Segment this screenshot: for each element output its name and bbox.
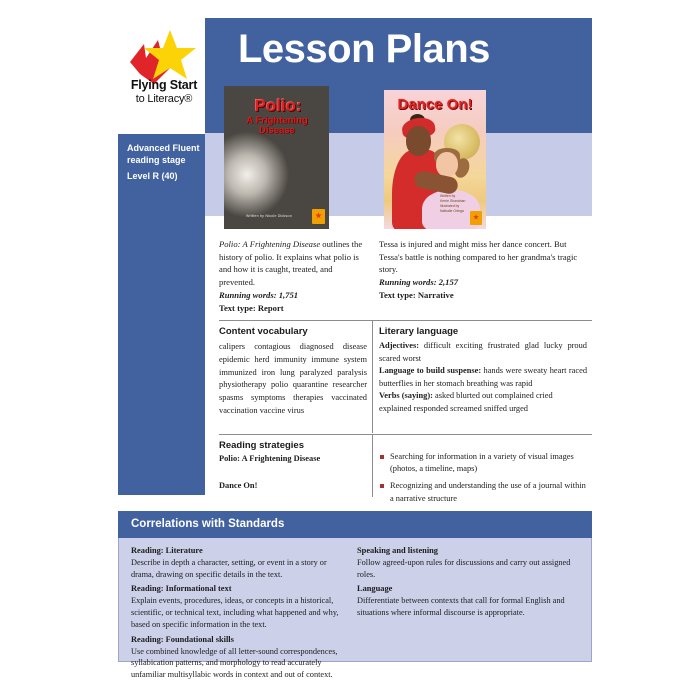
literary-group-suspense: Language to build suspense: hands were s…: [379, 365, 587, 390]
brand-wordmark: Flying Start to Literacy®: [118, 78, 210, 105]
dance-description-text: Tessa is injured and might miss her danc…: [379, 239, 577, 274]
literary-label-suspense: Language to build suspense:: [379, 366, 481, 375]
dance-text-type-value: Narrative: [418, 290, 454, 300]
polio-cover-subtitle: A Frightening Disease: [230, 116, 324, 135]
brand-line-1: Flying Start: [118, 78, 210, 92]
publisher-badge-icon: [312, 209, 325, 224]
sidebar-level: Level R (40): [127, 171, 201, 181]
standard-text: Use combined knowledge of all letter-sou…: [131, 646, 346, 681]
polio-running-words-value: 1,751: [279, 290, 298, 300]
list-item: Searching for information in a variety o…: [390, 451, 589, 475]
standard-text: Describe in depth a character, setting, …: [131, 557, 346, 581]
literary-label-verbs: Verbs (saying):: [379, 391, 433, 400]
book-cover-dance-on: Dance On! Written byKerrie ShanahanIllus…: [384, 90, 486, 229]
vocabulary-section-divider: [219, 320, 592, 321]
literary-language-heading: Literary language: [379, 326, 458, 337]
book-cover-polio: Polio: A Frightening Disease Written by …: [224, 86, 329, 229]
polio-title-italic: Polio: A Frightening Disease: [219, 239, 320, 249]
literary-group-adjectives: Adjectives: difficult exciting frustrate…: [379, 340, 587, 365]
standard-title: Reading: Informational text: [131, 583, 346, 595]
standard-text: Differentiate between contexts that call…: [357, 595, 579, 619]
book-description-polio: Polio: A Frightening Disease outlines th…: [219, 238, 369, 314]
polio-cover-title: Polio:: [232, 98, 324, 114]
dance-running-words-label: Running words:: [379, 277, 437, 287]
dance-text-type-label: Text type:: [379, 290, 416, 300]
reading-strategies-bullets: Searching for information in a variety o…: [379, 451, 589, 510]
vocabulary-column-divider: [372, 321, 373, 433]
reading-strategies-book-titles: Polio: A Frightening Disease Dance On!: [219, 453, 369, 492]
page-title: Lesson Plans: [238, 28, 578, 70]
content-vocabulary-heading: Content vocabulary: [219, 326, 308, 337]
standard-title: Reading: Literature: [131, 545, 346, 557]
standard-text: Explain events, procedures, ideas, or co…: [131, 595, 346, 630]
standard-title: Language: [357, 583, 579, 595]
brand-line-2: to Literacy®: [118, 93, 210, 105]
literary-label-adjectives: Adjectives:: [379, 341, 419, 350]
dance-running-words-value: 2,157: [439, 277, 458, 287]
strategy-book-two: Dance On!: [219, 481, 257, 490]
dance-cover-girl-head: [436, 152, 458, 177]
strategies-section-divider: [219, 434, 592, 435]
dance-cover-title: Dance On!: [388, 97, 482, 112]
literary-group-verbs: Verbs (saying): asked blurted out compla…: [379, 390, 587, 415]
standard-text: Follow agreed-upon rules for discussions…: [357, 557, 579, 581]
standards-heading: Correlations with Standards: [131, 518, 284, 530]
dance-cover-woman-head: [406, 126, 431, 156]
publisher-badge-icon: [470, 211, 482, 225]
strategies-column-divider: [372, 435, 373, 497]
reading-strategies-heading: Reading strategies: [219, 440, 304, 451]
sidebar-panel: [118, 134, 205, 495]
polio-text-type-label: Text type:: [219, 303, 256, 313]
standards-column-right: Speaking and listening Follow agreed-upo…: [357, 545, 579, 622]
standards-column-left: Reading: Literature Describe in depth a …: [131, 545, 346, 684]
standard-title: Reading: Foundational skills: [131, 634, 346, 646]
strategy-book-one: Polio: A Frightening Disease: [219, 454, 320, 463]
standard-title: Speaking and listening: [357, 545, 579, 557]
polio-text-type-value: Report: [258, 303, 284, 313]
lesson-plan-page: Lesson Plans Flying Start to Literacy® A…: [0, 0, 700, 700]
sidebar-reading-stage: Advanced Fluentreading stage: [127, 142, 201, 166]
polio-cover-author: Written by Nicole Dickson: [230, 214, 308, 218]
polio-running-words-label: Running words:: [219, 290, 277, 300]
literary-language-groups: Adjectives: difficult exciting frustrate…: [379, 340, 587, 416]
list-item: Recognizing and understanding the use of…: [390, 480, 589, 504]
book-description-dance-on: Tessa is injured and might miss her danc…: [379, 238, 579, 302]
content-vocabulary-words: calipers contagious diagnosed disease ep…: [219, 341, 367, 418]
